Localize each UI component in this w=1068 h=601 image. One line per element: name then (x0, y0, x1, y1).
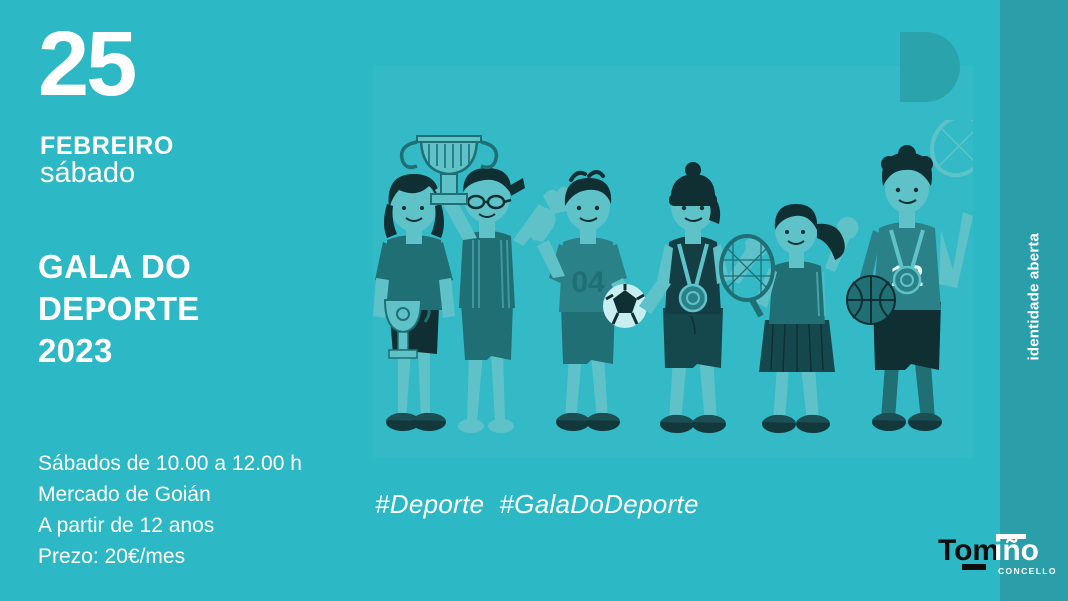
figure-girl-with-trophy (373, 174, 455, 431)
poster-canvas: 04 (0, 0, 1068, 601)
right-side-band: identidade aberta (1000, 0, 1068, 601)
title-line-2: DEPORTE (38, 288, 200, 330)
hashtags: #Deporte #GalaDoDeporte (375, 489, 699, 520)
svg-text:iño: iño (994, 534, 1039, 567)
event-weekday: sábado (40, 157, 135, 190)
figure-basketballer: 12 (847, 120, 973, 431)
identity-tagline: identidade aberta (1026, 293, 1043, 361)
detail-schedule: Sábados de 10.00 a 12.00 h (38, 448, 302, 479)
figure-footballer: 04 (529, 172, 647, 431)
figure-tennis-player (721, 204, 859, 433)
svg-text:04: 04 (571, 266, 605, 299)
svg-text:Tom: Tom (938, 534, 999, 567)
athletes-illustration: 04 (373, 120, 973, 460)
detail-age: A partir de 12 anos (38, 510, 302, 541)
svg-text:CONCELLO: CONCELLO (998, 566, 1057, 576)
event-details: Sábados de 10.00 a 12.00 h Mercado de Go… (38, 448, 302, 572)
detail-venue: Mercado de Goián (38, 479, 302, 510)
page-title: GALA DO DEPORTE 2023 (38, 246, 200, 373)
detail-price: Prezo: 20€/mes (38, 541, 302, 572)
tomino-logo: Tom iño CONCELLO (938, 528, 1058, 578)
title-line-1: GALA DO (38, 246, 200, 288)
figure-athlete-with-medal (639, 162, 767, 433)
left-info-column: 25 FEBREIRO sábado GALA DO DEPORTE 2023 … (38, 0, 368, 601)
title-line-3: 2023 (38, 330, 200, 372)
event-day: 25 (38, 22, 134, 107)
basketball (847, 276, 895, 324)
